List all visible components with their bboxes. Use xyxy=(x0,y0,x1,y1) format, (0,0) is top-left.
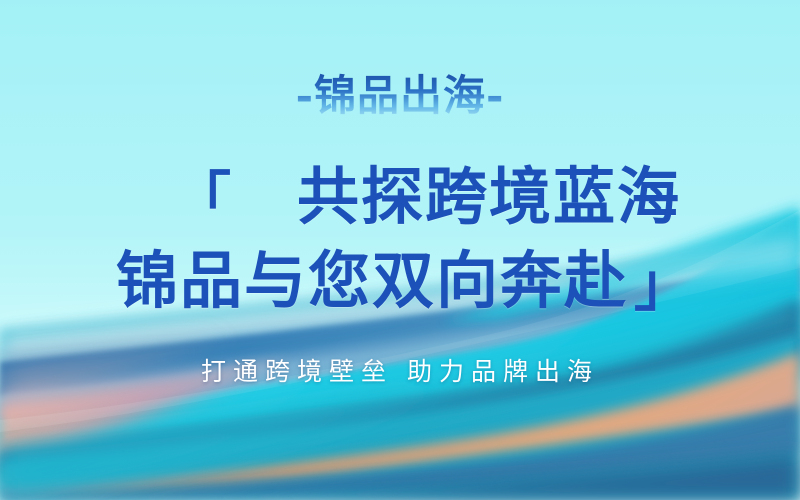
banner-headline: 「共探跨境蓝海 锦品与您双向奔赴」 xyxy=(0,155,800,323)
subline-part-1: 打通跨境壁垒 xyxy=(201,357,393,386)
close-quote-bracket: 」 xyxy=(634,251,694,319)
banner-subline: 打通跨境壁垒助力品牌出海 xyxy=(0,356,800,388)
marketing-banner: -锦品出海- 「共探跨境蓝海 锦品与您双向奔赴」 打通跨境壁垒助力品牌出海 xyxy=(0,0,800,500)
banner-text-layer: -锦品出海- 「共探跨境蓝海 锦品与您双向奔赴」 打通跨境壁垒助力品牌出海 xyxy=(0,0,800,500)
banner-eyebrow: -锦品出海- xyxy=(0,70,800,122)
subline-part-2: 助力品牌出海 xyxy=(407,357,599,386)
headline-line-2: 锦品与您双向奔赴 xyxy=(116,244,628,317)
headline-line-1: 共探跨境蓝海 xyxy=(297,160,681,233)
open-quote-bracket: 「 xyxy=(173,165,233,233)
